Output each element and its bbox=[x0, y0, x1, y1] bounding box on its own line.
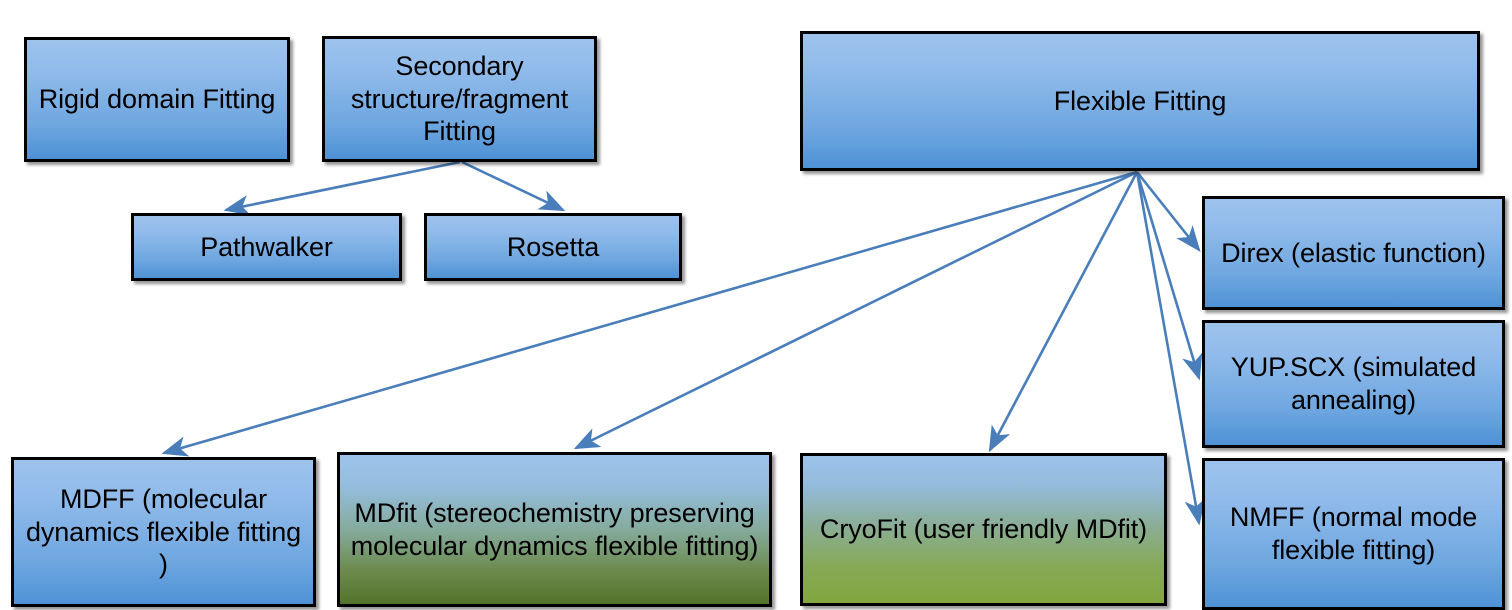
node-label: Rigid domain Fitting bbox=[35, 83, 279, 116]
edge-flexible-to-direx bbox=[1137, 172, 1199, 250]
node-label: MDfit (stereochemistry preserving molecu… bbox=[348, 497, 761, 563]
node-label: Rosetta bbox=[435, 231, 671, 264]
node-yup-scx[interactable]: YUP.SCX (simulated annealing) bbox=[1202, 320, 1505, 448]
node-label: Pathwalker bbox=[142, 231, 391, 264]
edge-flexible-to-cryofit bbox=[990, 172, 1137, 450]
node-rigid-domain-fitting[interactable]: Rigid domain Fitting bbox=[24, 37, 290, 162]
node-rosetta[interactable]: Rosetta bbox=[424, 213, 682, 281]
node-label: Secondary structure/fragment Fitting bbox=[333, 50, 586, 149]
node-mdff[interactable]: MDFF (molecular dynamics flexible fittin… bbox=[11, 457, 316, 607]
node-nmff[interactable]: NMFF (normal mode flexible fitting) bbox=[1202, 458, 1505, 610]
node-flexible-fitting[interactable]: Flexible Fitting bbox=[800, 31, 1480, 171]
node-secondary-structure-fragment-fitting[interactable]: Secondary structure/fragment Fitting bbox=[322, 36, 597, 162]
node-label: CryoFit (user friendly MDfit) bbox=[811, 513, 1156, 546]
node-label: NMFF (normal mode flexible fitting) bbox=[1213, 501, 1494, 567]
node-cryofit[interactable]: CryoFit (user friendly MDfit) bbox=[800, 453, 1167, 606]
node-label: YUP.SCX (simulated annealing) bbox=[1213, 351, 1494, 417]
node-direx[interactable]: Direx (elastic function) bbox=[1202, 196, 1505, 310]
node-label: Flexible Fitting bbox=[811, 85, 1469, 118]
node-label: Direx (elastic function) bbox=[1213, 237, 1494, 270]
node-mdfit[interactable]: MDfit (stereochemistry preserving molecu… bbox=[337, 452, 772, 607]
node-label: MDFF (molecular dynamics flexible fittin… bbox=[22, 483, 305, 582]
diagram-canvas: Rigid domain FittingSecondary structure/… bbox=[0, 0, 1512, 610]
node-pathwalker[interactable]: Pathwalker bbox=[131, 213, 402, 281]
edge-secondary-to-rosetta bbox=[462, 162, 563, 210]
edge-flexible-to-yupscx bbox=[1137, 172, 1199, 378]
edge-secondary-to-pathwalker bbox=[226, 162, 460, 210]
